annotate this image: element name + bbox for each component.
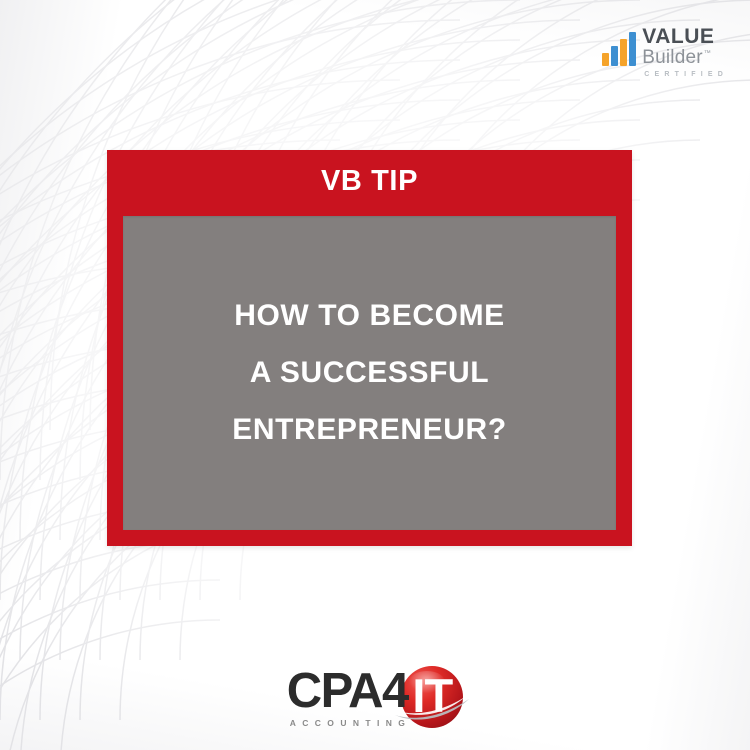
bar-chart-bar-3 xyxy=(620,39,627,66)
value-builder-word-builder-row: Builder ™ xyxy=(642,48,728,67)
vb-tip-card-title: VB TIP xyxy=(321,165,418,198)
cpa4it-tagline-accounting: ACCOUNTING xyxy=(287,719,412,728)
bar-chart-bar-1 xyxy=(602,53,609,66)
poster-canvas: VALUE Builder ™ CERTIFIED VB TIP HOW TO … xyxy=(0,0,750,750)
cpa4it-logo-inner: CPA4 ACCOUNTING IT xyxy=(287,666,464,728)
cpa4it-word-main: CPA4 xyxy=(287,667,412,716)
cpa4it-wordmark: CPA4 ACCOUNTING xyxy=(287,667,412,728)
value-builder-word-value: VALUE xyxy=(642,26,728,47)
vb-tip-card-header: VB TIP xyxy=(107,150,632,212)
bar-chart-bar-2 xyxy=(611,46,618,66)
headline-line-1: HOW TO BECOME xyxy=(234,301,505,331)
vb-tip-card-body: HOW TO BECOME A SUCCESSFUL ENTREPRENEUR? xyxy=(123,216,616,530)
headline-line-3: ENTREPRENEUR? xyxy=(232,415,507,445)
trademark-symbol: ™ xyxy=(704,50,711,57)
bar-chart-bar-4 xyxy=(629,32,636,66)
cpa4it-logo: CPA4 ACCOUNTING IT xyxy=(0,666,750,728)
value-builder-tagline-certified: CERTIFIED xyxy=(642,71,728,78)
value-builder-bar-chart-icon xyxy=(602,26,636,66)
value-builder-word-builder: Builder xyxy=(642,48,703,67)
value-builder-wordmark: VALUE Builder ™ CERTIFIED xyxy=(642,26,728,78)
value-builder-logo: VALUE Builder ™ CERTIFIED xyxy=(602,26,728,78)
vb-tip-card: VB TIP HOW TO BECOME A SUCCESSFUL ENTREP… xyxy=(107,150,632,546)
headline-line-2: A SUCCESSFUL xyxy=(250,358,489,388)
